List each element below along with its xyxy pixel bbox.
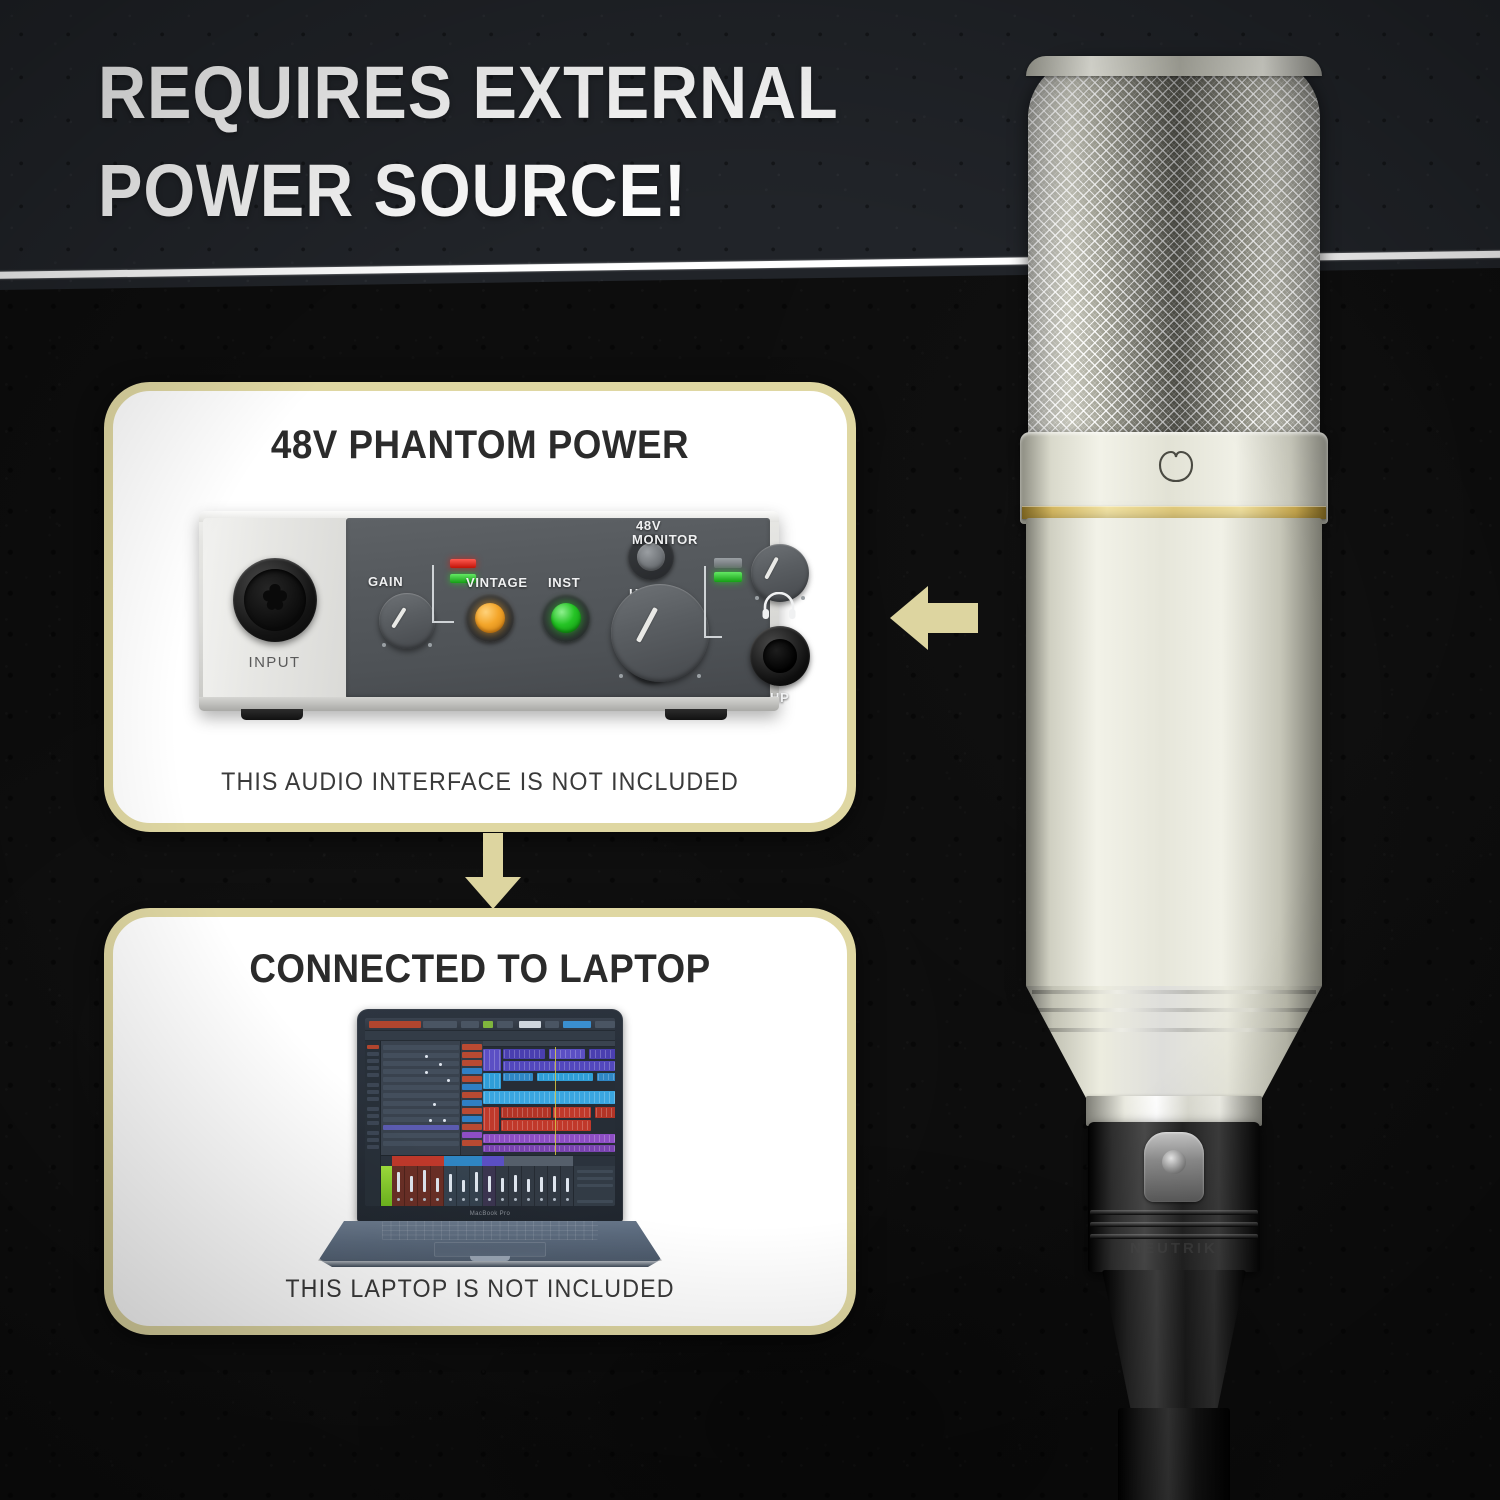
mixer-master-fader[interactable] — [381, 1166, 392, 1206]
headphone-jack[interactable] — [750, 626, 810, 686]
microphone-grille-rim — [1026, 56, 1322, 76]
daw-secondary-toolbar — [365, 1031, 615, 1041]
daw-mixer[interactable] — [381, 1155, 615, 1206]
combo-jack-opening-icon — [257, 582, 293, 618]
microphone: NEUTRIK — [1004, 28, 1344, 1500]
laptop-keyboard[interactable] — [382, 1221, 598, 1240]
mixer-plugin-panel[interactable] — [573, 1166, 615, 1206]
xlr-connector: NEUTRIK — [1088, 1122, 1260, 1412]
interface-left-panel: INPUT — [203, 518, 346, 699]
vintage-label: VINTAGE — [466, 575, 528, 590]
gain-knob[interactable] — [379, 593, 435, 649]
input-label: INPUT — [203, 654, 346, 671]
laptop-base — [318, 1215, 662, 1271]
card-laptop: CONNECTED TO LAPTOP — [104, 908, 856, 1335]
xlr-brand-label: NEUTRIK — [1088, 1240, 1260, 1257]
microphone-grille — [1028, 58, 1320, 458]
laptop-device: MacBook Pro — [318, 1009, 662, 1271]
monitor-meter-bracket — [704, 566, 722, 638]
microphone-cable — [1118, 1408, 1230, 1500]
phantom-power-label: 48V — [636, 518, 661, 533]
led-bracket — [432, 565, 454, 623]
headline-line-2: POWER SOURCE! — [98, 142, 845, 240]
headphone-icon — [761, 592, 797, 620]
headline-line-1: REQUIRES EXTERNAL — [98, 44, 845, 142]
interface-front-face: GAIN VINTAGE INST 48V — [346, 518, 770, 699]
daw-toolbar — [365, 1018, 615, 1031]
daw-browser-rail[interactable] — [365, 1041, 381, 1206]
input-jack[interactable] — [233, 558, 317, 642]
audio-interface-device: INPUT GAIN VINTAGE INST — [199, 511, 779, 711]
xlr-strain-relief — [1102, 1270, 1246, 1416]
monitor-label: MONITOR — [632, 532, 698, 547]
cardioid-pattern-icon — [1156, 446, 1196, 486]
daw-application — [365, 1018, 615, 1206]
microphone-taper — [1026, 986, 1322, 1098]
laptop-trackpad[interactable] — [434, 1242, 546, 1257]
inst-button[interactable] — [542, 594, 590, 642]
daw-playlist[interactable] — [483, 1041, 615, 1155]
arrow-left-icon — [888, 572, 980, 664]
card-caption-audio-interface: THIS AUDIO INTERFACE IS NOT INCLUDED — [139, 768, 822, 797]
vintage-button[interactable] — [466, 594, 514, 642]
card-caption-laptop: THIS LAPTOP IS NOT INCLUDED — [139, 1275, 822, 1304]
daw-channel-rack[interactable] — [461, 1041, 483, 1155]
monitor-knob[interactable] — [611, 584, 709, 682]
daw-step-sequencer[interactable] — [381, 1041, 461, 1155]
laptop-lid-notch — [470, 1256, 510, 1261]
card-title-audio-interface: 48V PHANTOM POWER — [142, 423, 817, 468]
infographic-stage: REQUIRES EXTERNAL POWER SOURCE! 48V PHAN… — [0, 0, 1500, 1500]
xlr-latch-button[interactable] — [1144, 1132, 1204, 1202]
interface-foot-right — [665, 709, 727, 720]
laptop-lid: MacBook Pro — [357, 1009, 623, 1222]
laptop-screen — [365, 1018, 615, 1206]
inst-label: INST — [548, 575, 580, 590]
microphone-body — [1026, 518, 1322, 988]
card-title-laptop: CONNECTED TO LAPTOP — [142, 947, 817, 992]
headline: REQUIRES EXTERNAL POWER SOURCE! — [98, 44, 845, 241]
interface-foot-left — [241, 709, 303, 720]
card-audio-interface: 48V PHANTOM POWER INPUT GAIN — [104, 382, 856, 832]
gain-label: GAIN — [368, 574, 403, 589]
arrow-down-icon — [461, 833, 525, 911]
